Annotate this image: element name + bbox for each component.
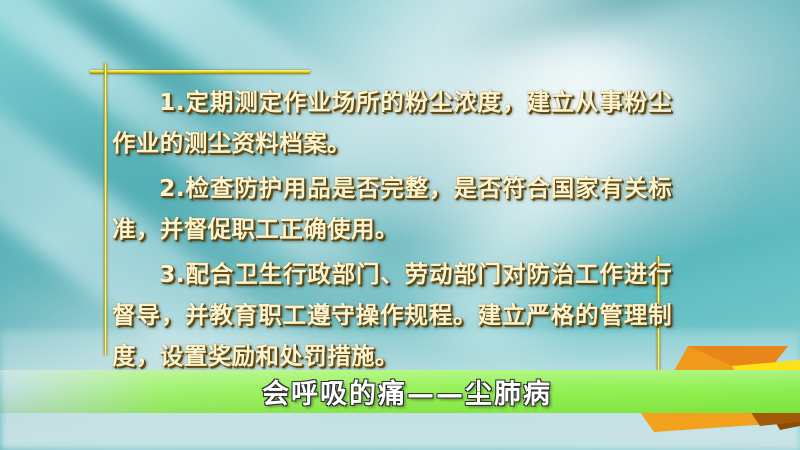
body-paragraph-3: 3.配合卫生行政部门、劳动部门对防治工作进行督导，并教育职工遵守操作规程。建立严… bbox=[112, 254, 672, 377]
title-banner: 会呼吸的痛——尘肺病 bbox=[0, 370, 800, 413]
gold-vertical-rule-left bbox=[104, 63, 107, 355]
body-paragraph-2: 2.检查防护用品是否完整，是否符合国家有关标准，并督促职工正确使用。 bbox=[112, 168, 672, 250]
gold-horizontal-rule bbox=[90, 70, 310, 74]
presentation-slide: 1.定期测定作业场所的粉尘浓度，建立从事粉尘作业的测尘资料档案。 2.检查防护用… bbox=[0, 0, 800, 450]
body-paragraph-1: 1.定期测定作业场所的粉尘浓度，建立从事粉尘作业的测尘资料档案。 bbox=[112, 82, 672, 164]
slide-body-text: 1.定期测定作业场所的粉尘浓度，建立从事粉尘作业的测尘资料档案。 2.检查防护用… bbox=[112, 82, 672, 377]
slide-title: 会呼吸的痛——尘肺病 bbox=[0, 370, 800, 413]
